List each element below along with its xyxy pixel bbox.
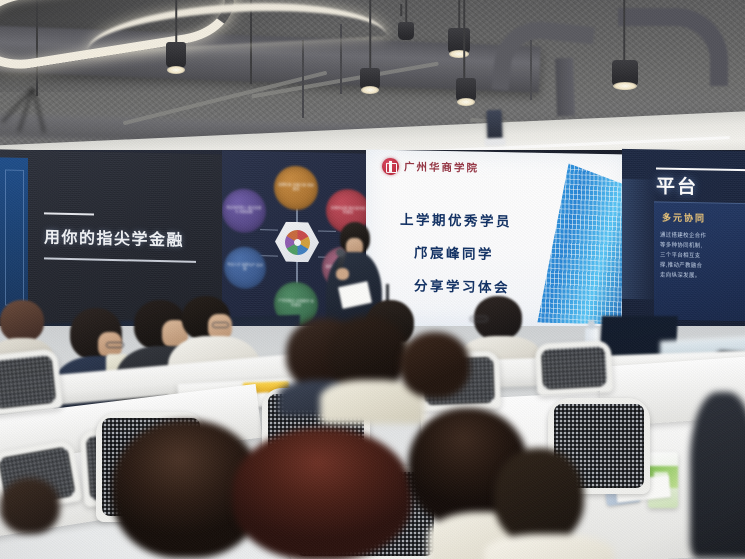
classroom-photo-scene: 用你的指尖学金融 品牌形象 传播方案 规划建设 全媒体运营 融合宣传矩 阵建设 … xyxy=(0,0,745,559)
university-emblem-icon xyxy=(382,158,399,175)
chair xyxy=(0,348,63,415)
chair xyxy=(535,340,614,396)
ceiling-camera-icon xyxy=(486,110,502,141)
audience-member xyxy=(400,332,474,412)
pendant-light xyxy=(360,0,380,92)
person-head xyxy=(400,332,470,398)
audience-member xyxy=(232,428,422,559)
chair-mesh-back xyxy=(541,346,607,389)
right-panel-subtitle: 多元协同 xyxy=(662,211,706,225)
pendant-wire xyxy=(369,0,371,68)
right-panel-glow xyxy=(622,179,658,300)
hanger-rod xyxy=(530,40,532,100)
left-panel-accent-bar xyxy=(0,157,28,318)
person-head xyxy=(232,428,412,559)
slide-line-1: 上学期优秀学员 xyxy=(400,208,550,231)
university-name: 广州华商学院 xyxy=(404,159,479,175)
hanger-rod xyxy=(302,40,304,118)
person-head xyxy=(0,300,44,342)
pendant-wire xyxy=(623,0,625,60)
pendant-light xyxy=(396,0,418,110)
chair-mesh-back xyxy=(0,355,56,409)
slide-title-block: 上学期优秀学员 邝宸峰同学 分享学习体会 xyxy=(400,208,550,297)
slogan-block: 用你的指尖学金融 xyxy=(44,212,214,262)
video-wall-right-panel: 平台 多元协同 通过搭建校企合作 等多种协同机制, 三个平台相互支 撑,推动产教… xyxy=(622,149,745,331)
slide-line-3: 分享学习体会 xyxy=(400,274,550,297)
right-panel-title: 平台 xyxy=(656,171,698,199)
hex-connector xyxy=(260,229,278,230)
pendant-glow xyxy=(457,98,475,106)
slogan-rule-bottom xyxy=(44,257,196,262)
right-panel-rule xyxy=(656,167,745,171)
hex-bubble: 校企协同育人 模式改革与 机制创新 xyxy=(222,188,266,233)
person-head xyxy=(328,316,408,390)
pendant-light xyxy=(612,0,638,92)
university-logo: 广州华商学院 xyxy=(382,158,479,177)
right-panel-body: 通过搭建校企合作 等多种协同机制, 三个平台相互支 撑,推动产教融合 走向纵深发… xyxy=(660,231,745,283)
slogan-text: 用你的指尖学金融 xyxy=(44,223,214,251)
person-head xyxy=(0,478,60,534)
hex-center-shape xyxy=(275,222,319,263)
pendant-glow xyxy=(167,66,185,74)
pendant-glow xyxy=(361,86,379,94)
hex-bubble: 品牌形象 传播方案 规划建设 xyxy=(274,165,318,210)
audience-member xyxy=(690,392,745,559)
pendant-light xyxy=(456,0,476,108)
glasses-icon xyxy=(470,316,488,322)
air-duct-vertical xyxy=(555,58,575,117)
microphone-head xyxy=(336,248,345,257)
person-body xyxy=(690,392,745,558)
audience-member xyxy=(494,448,614,559)
person-body xyxy=(484,534,614,559)
pendant-wire xyxy=(463,0,465,78)
hex-bubble: 专业人才 培养与产 业对接 xyxy=(224,246,266,289)
pendant-glow xyxy=(613,82,637,90)
right-panel-card: 多元协同 通过搭建校企合作 等多种协同机制, 三个平台相互支 撑,推动产教融合 … xyxy=(654,201,745,321)
pendant-light xyxy=(166,0,186,74)
person-head xyxy=(494,448,584,544)
slide-line-2: 邝宸峰同学 xyxy=(400,241,550,264)
speaker-hand xyxy=(336,268,349,280)
pendant-wire xyxy=(175,0,177,42)
pendant-housing xyxy=(166,42,186,68)
slogan-rule-top xyxy=(44,212,94,215)
glasses-icon xyxy=(212,322,229,328)
audience-member xyxy=(0,478,130,559)
tripod-stand xyxy=(2,88,64,136)
hex-color-wheel xyxy=(285,229,310,255)
